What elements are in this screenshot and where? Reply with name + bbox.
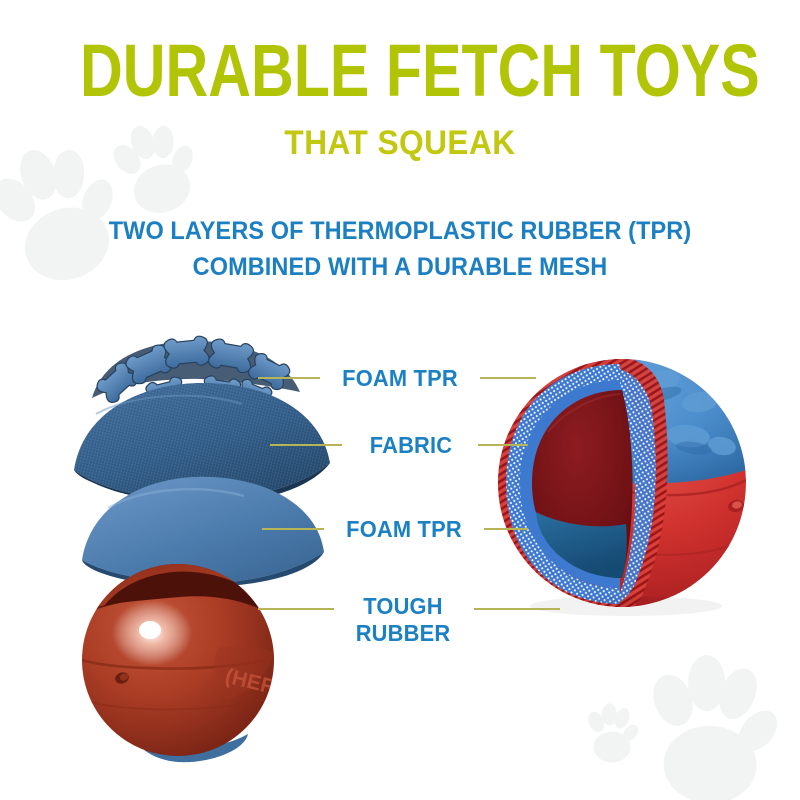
leader-line-foam-tpr-top-right	[480, 377, 536, 379]
leader-line-fabric-right	[478, 444, 528, 446]
leader-line-foam-tpr-top-left	[258, 377, 320, 379]
callout-text-line-1: TOUGH	[345, 593, 461, 620]
cutaway-ball-diagram	[498, 352, 748, 616]
tough-rubber-ball: (HERO	[82, 555, 294, 762]
callout-text-line-2: RUBBER	[345, 620, 461, 647]
leader-line-fabric-left	[270, 444, 342, 446]
callout-text: FOAM TPR	[346, 516, 462, 542]
illustration-canvas: (HERO	[0, 0, 800, 800]
leader-line-tough-rubber-left	[258, 608, 334, 610]
infographic-page: (HERO	[0, 0, 800, 800]
callout-text: FABRIC	[370, 432, 452, 458]
description-line-2: COMBINED WITH A DURABLE MESH	[24, 255, 776, 280]
callout-label-tough-rubber: TOUGH RUBBER	[345, 593, 461, 647]
paw-print-icon	[581, 700, 644, 767]
page-title: DURABLE FETCH TOYS	[80, 34, 720, 108]
description-line-1: TWO LAYERS OF THERMOPLASTIC RUBBER (TPR)	[24, 219, 776, 244]
leader-line-tough-rubber-right	[474, 608, 560, 610]
callout-label-foam-tpr-bottom: FOAM TPR	[338, 516, 471, 543]
exploded-view-diagram: (HERO	[60, 335, 350, 762]
callout-label-fabric: FABRIC	[355, 432, 467, 459]
callout-text: FOAM TPR	[342, 365, 458, 391]
paw-print-icon	[630, 645, 793, 800]
callout-label-foam-tpr-top: FOAM TPR	[334, 365, 467, 392]
leader-line-foam-tpr-bottom-left	[262, 528, 324, 530]
page-subtitle: THAT SQUEAK	[28, 126, 772, 160]
leader-line-foam-tpr-bottom-right	[484, 528, 528, 530]
